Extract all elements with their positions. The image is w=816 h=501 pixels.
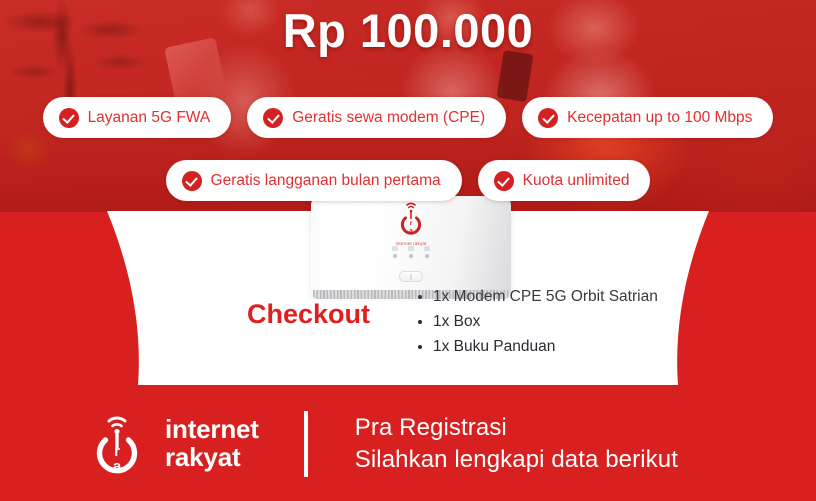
- checkout-list-item: 1x Modem CPE 5G Orbit Satrian: [433, 284, 658, 309]
- modem-highlight: [319, 198, 405, 292]
- checkout-items-list: 1x Modem CPE 5G Orbit Satrian 1x Box 1x …: [415, 284, 658, 359]
- svg-text:a: a: [409, 228, 413, 235]
- led-symbol-power: [392, 246, 398, 251]
- modem-led-symbols: [392, 246, 430, 251]
- vertical-divider: [304, 411, 308, 477]
- led-symbol-signal: [424, 246, 430, 251]
- feature-pill-label: Layanan 5G FWA: [88, 110, 211, 126]
- footer-copy: Pra Registrasi Silahkan lengkapi data be…: [355, 412, 678, 474]
- led-indicator: [425, 254, 429, 258]
- feature-pill-label: Kecepatan up to 100 Mbps: [567, 110, 752, 126]
- footer-heading: Pra Registrasi: [355, 412, 678, 443]
- footer-subheading: Silahkan lengkapi data berikut: [355, 444, 678, 475]
- promo-banner-page: Rp 100.000 Layanan 5G FWA Geratis sewa m…: [0, 0, 816, 501]
- check-circle-icon: [494, 171, 514, 191]
- led-indicator: [393, 254, 397, 258]
- check-circle-icon: [182, 171, 202, 191]
- footer-bar: r a internet rakyat Pra Registrasi Silah…: [0, 386, 816, 501]
- svg-text:a: a: [113, 458, 122, 475]
- check-circle-icon: [59, 108, 79, 128]
- brand-word-line1: internet: [165, 416, 259, 444]
- modem-led-indicators: [393, 254, 429, 258]
- feature-pill-label: Kuota unlimited: [523, 173, 630, 189]
- feature-pill[interactable]: Layanan 5G FWA: [43, 97, 232, 138]
- feature-pill-label: Geratis sewa modem (CPE): [292, 110, 485, 126]
- brand-wordmark: internet rakyat: [165, 416, 259, 471]
- modem-power-button: [399, 271, 423, 282]
- internet-rakyat-power-wifi-logo-icon: r a: [88, 410, 154, 478]
- led-symbol-wifi: [408, 246, 414, 251]
- feature-pill-label: Geratis langganan bulan pertama: [211, 173, 441, 189]
- feature-pill[interactable]: Geratis langganan bulan pertama: [166, 160, 462, 201]
- feature-pill[interactable]: Geratis sewa modem (CPE): [247, 97, 506, 138]
- modem-ira-logo-icon: r a: [394, 201, 428, 241]
- checkout-list-item: 1x Box: [433, 309, 658, 334]
- brand-lockup: r a internet rakyat: [88, 410, 259, 478]
- price-headline: Rp 100.000: [0, 3, 816, 58]
- check-circle-icon: [538, 108, 558, 128]
- feature-pill-row-2: Geratis langganan bulan pertama Kuota un…: [0, 160, 816, 201]
- svg-text:r: r: [410, 220, 413, 227]
- feature-pill[interactable]: Kecepatan up to 100 Mbps: [522, 97, 773, 138]
- led-indicator: [409, 254, 413, 258]
- checkout-heading: Checkout: [247, 299, 370, 330]
- check-circle-icon: [263, 108, 283, 128]
- checkout-list-item: 1x Buku Panduan: [433, 334, 658, 359]
- feature-pill-row-1: Layanan 5G FWA Geratis sewa modem (CPE) …: [0, 97, 816, 138]
- feature-pill[interactable]: Kuota unlimited: [478, 160, 651, 201]
- brand-word-line2: rakyat: [165, 444, 259, 472]
